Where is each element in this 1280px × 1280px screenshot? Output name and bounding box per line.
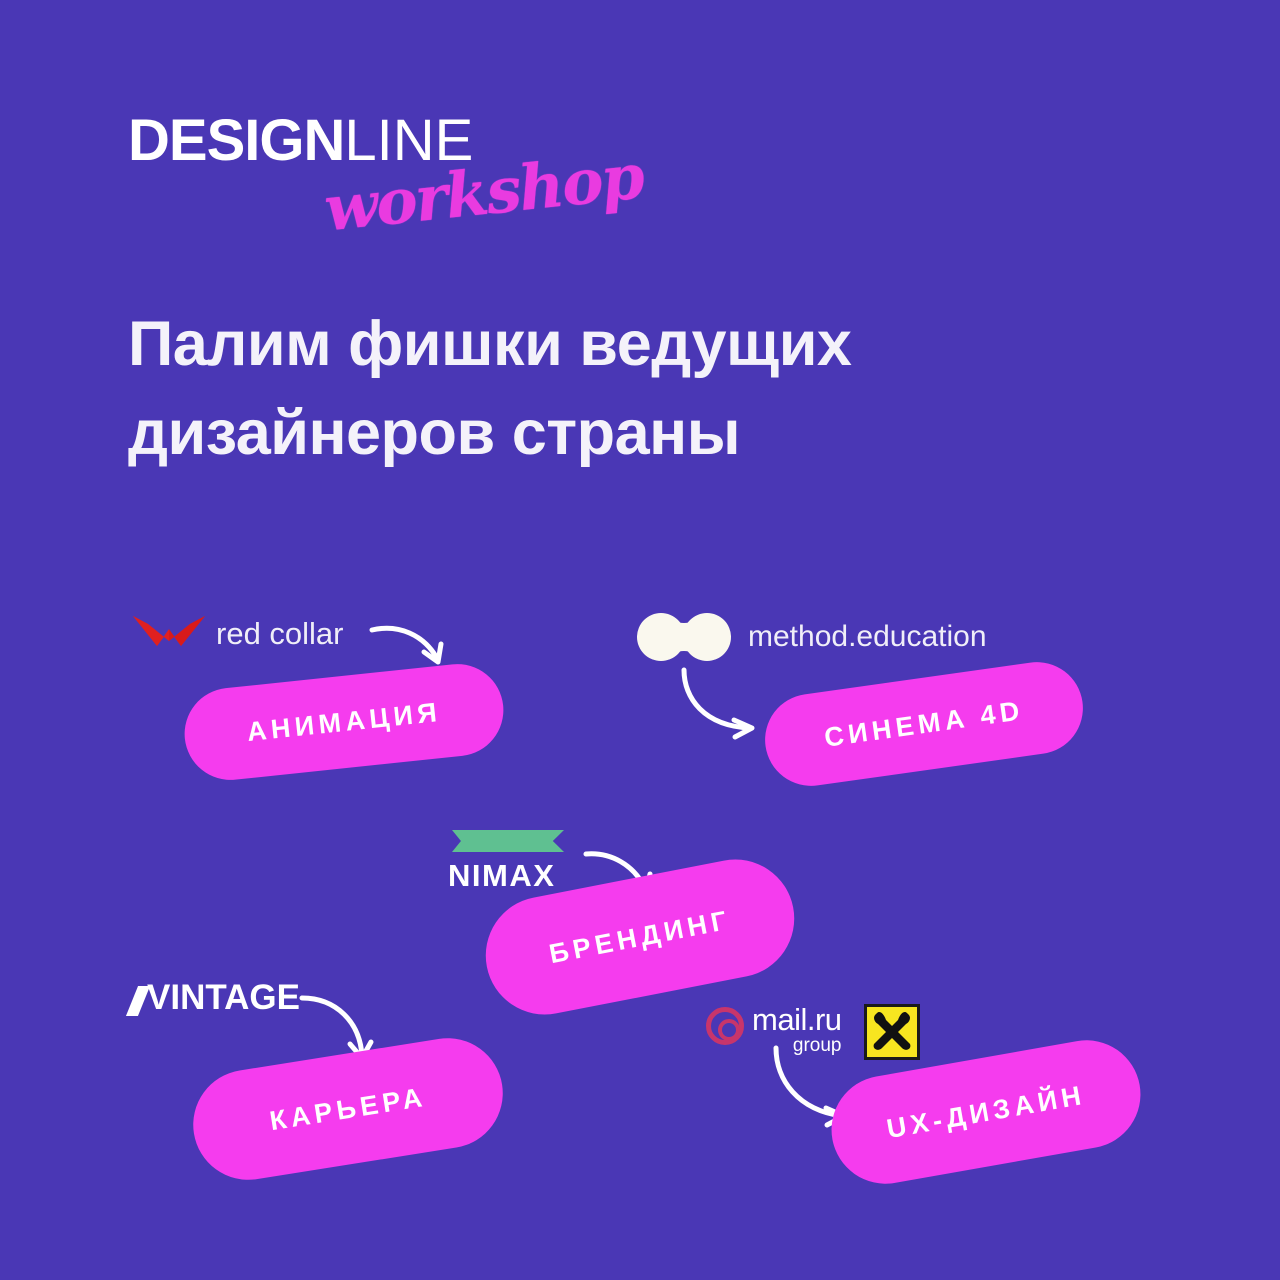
topic-pill-career[interactable]: КАРЬЕРА [185, 1030, 510, 1187]
client-name-method-education: method.education [748, 620, 987, 654]
red-collar-wing-icon [132, 612, 206, 656]
brand-word-bold: DESIGN [128, 108, 344, 173]
nimax-green-banner-icon [452, 830, 564, 852]
topic-pill-cinema-4d-label: СИНЕМА 4D [822, 695, 1025, 754]
client-name-mailru: mail.ru [752, 1004, 842, 1035]
client-name-vintage: VINTAGE [147, 978, 300, 1018]
client-logo-nimax: NIMAX [448, 830, 564, 894]
topic-pill-animation-label: АНИМАЦИЯ [245, 696, 442, 747]
mailru-at-icon [706, 1007, 744, 1045]
topic-pill-ux-design-label: UX-ДИЗАЙН [884, 1079, 1087, 1144]
client-name-red-collar: red collar [216, 616, 344, 652]
page-title-line-2: дизайнеров страны [128, 389, 1088, 478]
topic-pill-career-label: КАРЬЕРА [268, 1081, 429, 1136]
client-logo-vintage: VINTAGE [132, 978, 300, 1018]
client-name-nimax: NIMAX [448, 858, 564, 894]
page-title-line-1: Палим фишки ведущих [128, 300, 1088, 389]
method-double-circle-icon [636, 612, 732, 662]
topic-pill-branding-label: БРЕНДИНГ [547, 904, 734, 970]
page-title: Палим фишки ведущих дизайнеров страны [128, 300, 1088, 479]
client-logo-red-collar: red collar [132, 612, 344, 656]
topic-pill-animation[interactable]: АНИМАЦИЯ [180, 660, 508, 785]
curved-arrow-down-right-icon [678, 664, 768, 746]
client-logo-method-education: method.education [636, 612, 987, 662]
brand-logo: DESIGNLINE workshop [128, 112, 648, 252]
raiffeisen-gable-cross-icon [864, 1004, 920, 1060]
topic-pill-cinema-4d[interactable]: СИНЕМА 4D [759, 656, 1089, 792]
